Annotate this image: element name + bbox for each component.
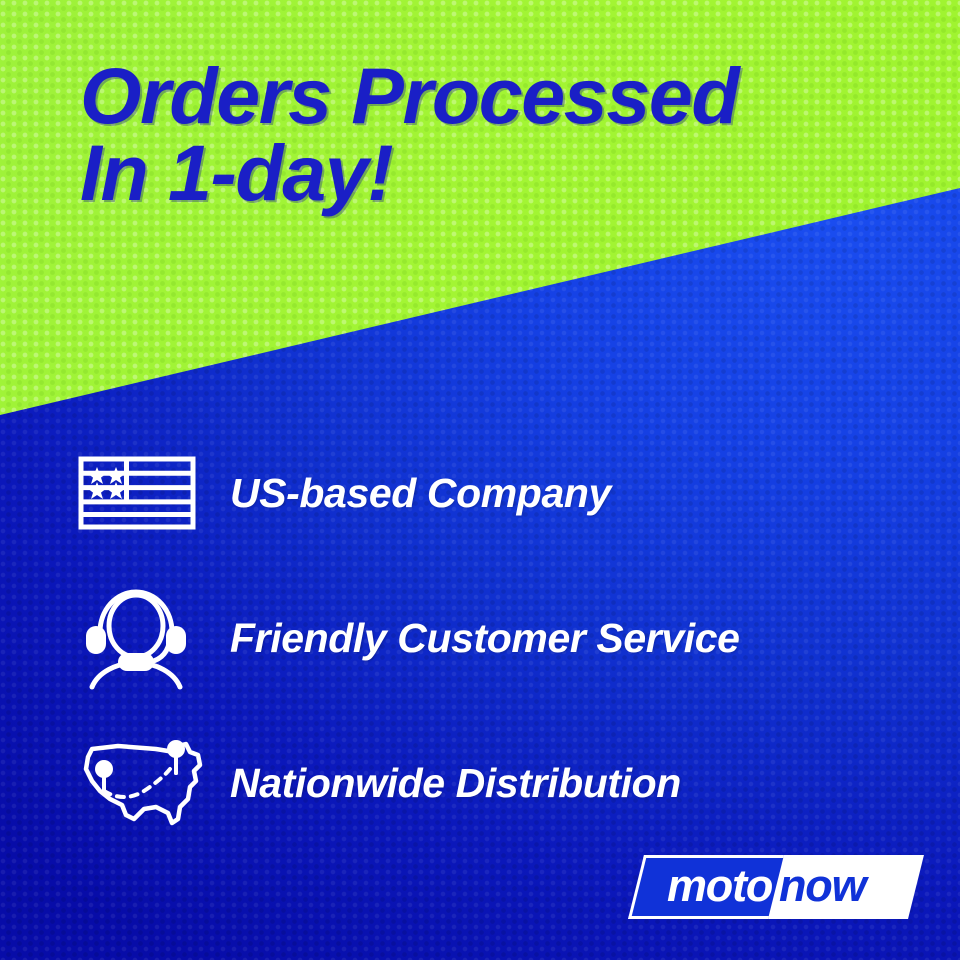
logo-moto-block: moto: [628, 855, 784, 919]
list-item: US-based Company: [70, 437, 930, 549]
logo-now-text: now: [776, 863, 865, 911]
feature-list: US-based Company: [70, 437, 930, 872]
promo-poster: Orders Processed In 1-day!: [0, 0, 960, 960]
us-map-pins-icon: [70, 727, 210, 839]
logo-moto-text: moto: [667, 863, 776, 911]
list-item-label: Friendly Customer Service: [230, 615, 740, 662]
list-item-label: US-based Company: [230, 470, 611, 517]
logo-now-block: now: [768, 855, 924, 919]
list-item-label: Nationwide Distribution: [230, 760, 681, 807]
list-item: Nationwide Distribution: [70, 727, 930, 839]
headset-support-icon: [70, 582, 210, 694]
page-title: Orders Processed In 1-day!: [80, 58, 930, 211]
motonow-logo[interactable]: moto now: [636, 855, 916, 919]
list-item: Friendly Customer Service: [70, 582, 930, 694]
us-flag-icon: [70, 437, 210, 549]
